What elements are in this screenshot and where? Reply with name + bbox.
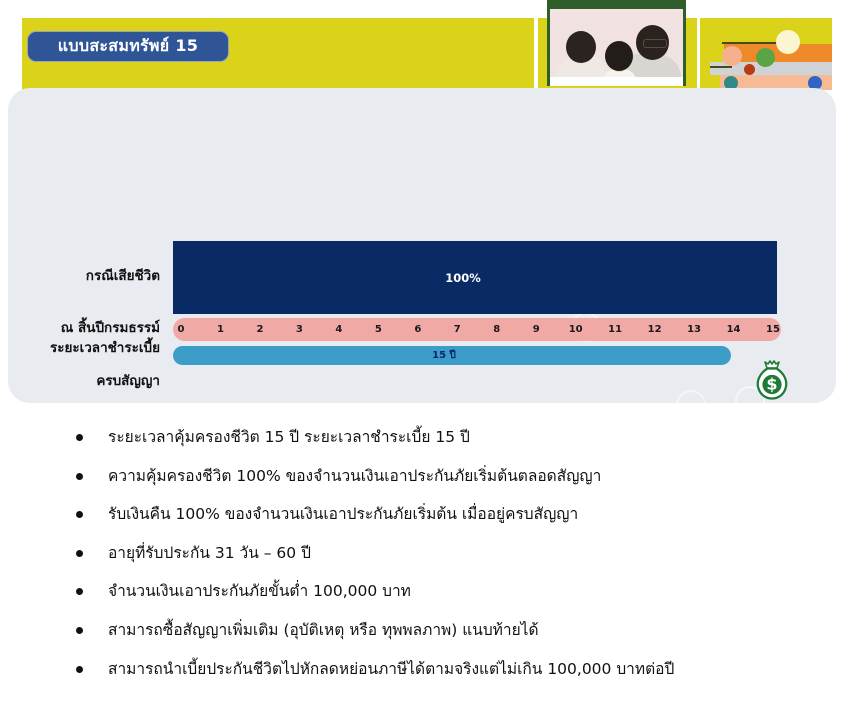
policy-year-timeline-axis: 0123456789101112131415 (173, 318, 781, 341)
timeline-tick: 6 (405, 318, 431, 341)
feature-list: ระยะเวลาคุ้มครองชีวิต 15 ปี ระยะเวลาชำระ… (72, 428, 832, 698)
feature-list-item: ความคุ้มครองชีวิต 100% ของจำนวนเงินเอาปร… (72, 467, 832, 486)
chart-label-maturity: ครบสัญญา (20, 373, 160, 390)
photo-child-hair (605, 41, 633, 71)
death-coverage-bar: 100% (173, 241, 777, 314)
timeline-tick: 8 (484, 318, 510, 341)
feature-list-item: ระยะเวลาคุ้มครองชีวิต 15 ปี ระยะเวลาชำระ… (72, 428, 832, 447)
timeline-tick: 7 (444, 318, 470, 341)
timeline-tick: 13 (681, 318, 707, 341)
timeline-tick: 3 (286, 318, 312, 341)
timeline-tick: 1 (207, 318, 233, 341)
photo-mother-hair (566, 31, 596, 63)
timeline-tick: 12 (642, 318, 668, 341)
timeline-tick: 15 (760, 318, 786, 341)
feature-list-item: รับเงินคืน 100% ของจำนวนเงินเอาประกันภัย… (72, 505, 832, 524)
photo-glasses (643, 39, 667, 48)
feature-list-item: สามารถซื้อสัญญาเพิ่มเติม (อุบัติเหตุ หรื… (72, 621, 832, 640)
timeline-tick: 9 (523, 318, 549, 341)
timeline-tick: 2 (247, 318, 273, 341)
photo-foreground-table (550, 77, 683, 86)
deco-circle-red (744, 64, 755, 75)
page-header: แบบสะสมทรัพย์ 15 (0, 0, 852, 90)
svg-text:$: $ (766, 375, 777, 394)
timeline-tick: 10 (563, 318, 589, 341)
premium-payment-bar: 15 ปี (173, 346, 731, 365)
premium-payment-value: 15 ปี (432, 348, 456, 363)
timeline-tick: 4 (326, 318, 352, 341)
decorative-graphic (700, 18, 832, 90)
chart-label-end-of-policy-year: ณ สิ้นปีกรมธรรม์ (20, 320, 160, 337)
chart-label-premium-period: ระยะเวลาชำระเบี้ย (20, 340, 160, 357)
timeline-tick: 11 (602, 318, 628, 341)
deco-circle-green (756, 48, 775, 67)
deco-line-top (722, 42, 778, 44)
photo-frame (547, 0, 686, 86)
chart-label-death: กรณีเสียชีวิต (20, 268, 160, 285)
decorative-ring-icon (676, 390, 706, 403)
family-photo (547, 0, 697, 90)
feature-list-item: จำนวนเงินเอาประกันภัยขั้นต่ำ 100,000 บาท (72, 582, 832, 601)
benefit-chart-panel: กรณีเสียชีวิต ณ สิ้นปีกรมธรรม์ ระยะเวลาช… (8, 88, 836, 403)
deco-line-bottom (710, 66, 732, 68)
money-bag-icon: $ (748, 356, 796, 403)
deco-circle-peach (722, 46, 742, 66)
death-coverage-value: 100% (161, 241, 765, 314)
deco-circle-cream (776, 30, 800, 54)
product-title-badge: แบบสะสมทรัพย์ 15 (27, 31, 229, 62)
photo-image (550, 9, 683, 86)
feature-list-item: สามารถนำเบี้ยประกันชีวิตไปหักลดหย่อนภาษี… (72, 660, 832, 679)
feature-list-item: อายุที่รับประกัน 31 วัน – 60 ปี (72, 544, 832, 563)
timeline-tick: 5 (365, 318, 391, 341)
timeline-tick: 0 (168, 318, 194, 341)
timeline-tick: 14 (721, 318, 747, 341)
